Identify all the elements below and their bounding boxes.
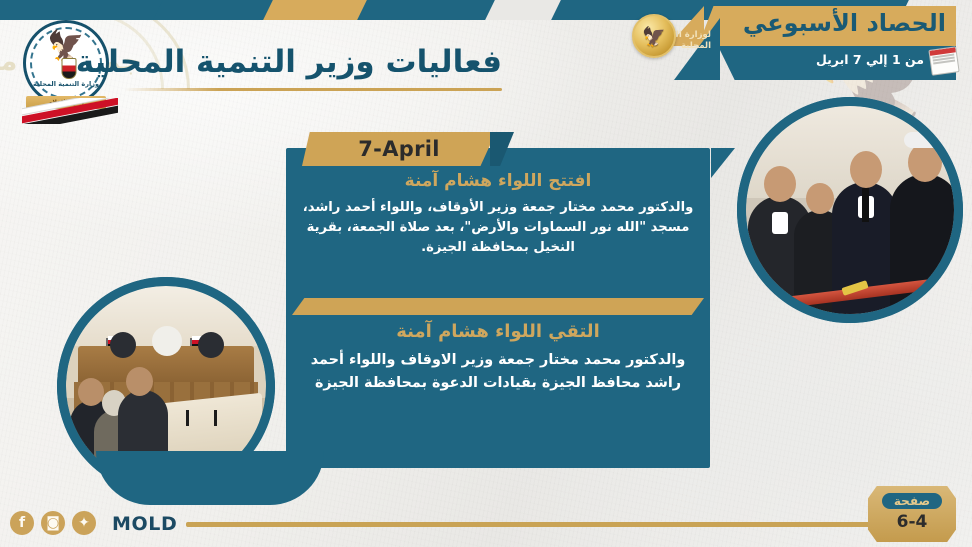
scene-tie xyxy=(862,188,869,222)
instagram-icon[interactable]: ◙ xyxy=(41,511,65,535)
article-body: والدكتور محمد مختار جمعة وزير الاوقاف وا… xyxy=(296,349,700,394)
calendar-icon xyxy=(928,46,959,76)
egypt-eagle-seal-icon: 🦅 xyxy=(632,14,676,58)
footer-wave xyxy=(96,451,324,505)
strip-segment xyxy=(0,0,165,20)
microphone-icon xyxy=(186,410,189,426)
scene-head xyxy=(908,143,942,182)
scene-shirt xyxy=(772,212,788,234)
logo-ministry-name: وزارة التنمية المحلية xyxy=(16,80,116,88)
scene-head xyxy=(850,151,882,188)
badge-title: الحصاد الأسبوعي xyxy=(696,9,946,37)
infographic-poster: 🦅 جمهورية مصر العربية 🦅 وزارة التنمية ال… xyxy=(0,0,972,547)
facebook-icon[interactable]: f xyxy=(10,511,34,535)
strip-segment xyxy=(357,0,497,20)
brand-label: MOLD xyxy=(112,513,177,535)
scene-seated-person xyxy=(198,332,224,358)
scene-seated-person xyxy=(110,332,136,358)
article-divider xyxy=(292,298,704,315)
title-underline xyxy=(124,88,502,91)
date-badge: 7-April xyxy=(302,132,496,166)
scene-head xyxy=(78,378,104,406)
ribbon-cutting-photo xyxy=(746,106,954,314)
seal-glyph: 🦅 xyxy=(634,16,674,56)
shield-icon xyxy=(62,58,77,79)
strip-segment xyxy=(153,0,275,20)
scene-head xyxy=(764,166,796,202)
scene-head xyxy=(806,183,834,214)
social-links[interactable]: f ◙ ✦ xyxy=(10,511,96,535)
badge-date-range: من 1 إلي 7 ابريل xyxy=(734,52,924,67)
footer-rule xyxy=(186,522,876,527)
egypt-flag-icon xyxy=(22,98,118,124)
article-headline: افتتح اللواء هشام آمنة xyxy=(296,170,700,193)
microphone-icon xyxy=(214,410,217,426)
article-headline: التقي اللواء هشام آمنة xyxy=(296,320,700,344)
page-badge: صفحة 6-4 xyxy=(868,486,956,542)
scene-turban xyxy=(904,132,946,148)
page-label: صفحة xyxy=(882,493,942,509)
article-item: افتتح اللواء هشام آمنة والدكتور محمد مخت… xyxy=(296,170,700,258)
weekly-header-badge: الحصاد الأسبوعي لوزارة التنمية المحلية م… xyxy=(636,4,966,90)
strip-segment-gold xyxy=(263,0,369,20)
twitter-icon[interactable]: ✦ xyxy=(72,511,96,535)
article-item: التقي اللواء هشام آمنة والدكتور محمد مخت… xyxy=(296,320,700,394)
page-title: فعاليات وزير التنمية المحلية xyxy=(122,44,502,80)
article-body: والدكتور محمد مختار جمعة وزير الأوقاف، و… xyxy=(296,198,700,258)
photo-scene xyxy=(746,106,954,314)
page-number: 6-4 xyxy=(868,512,956,532)
scene-head xyxy=(126,367,153,396)
scene-seated-person xyxy=(152,326,182,356)
